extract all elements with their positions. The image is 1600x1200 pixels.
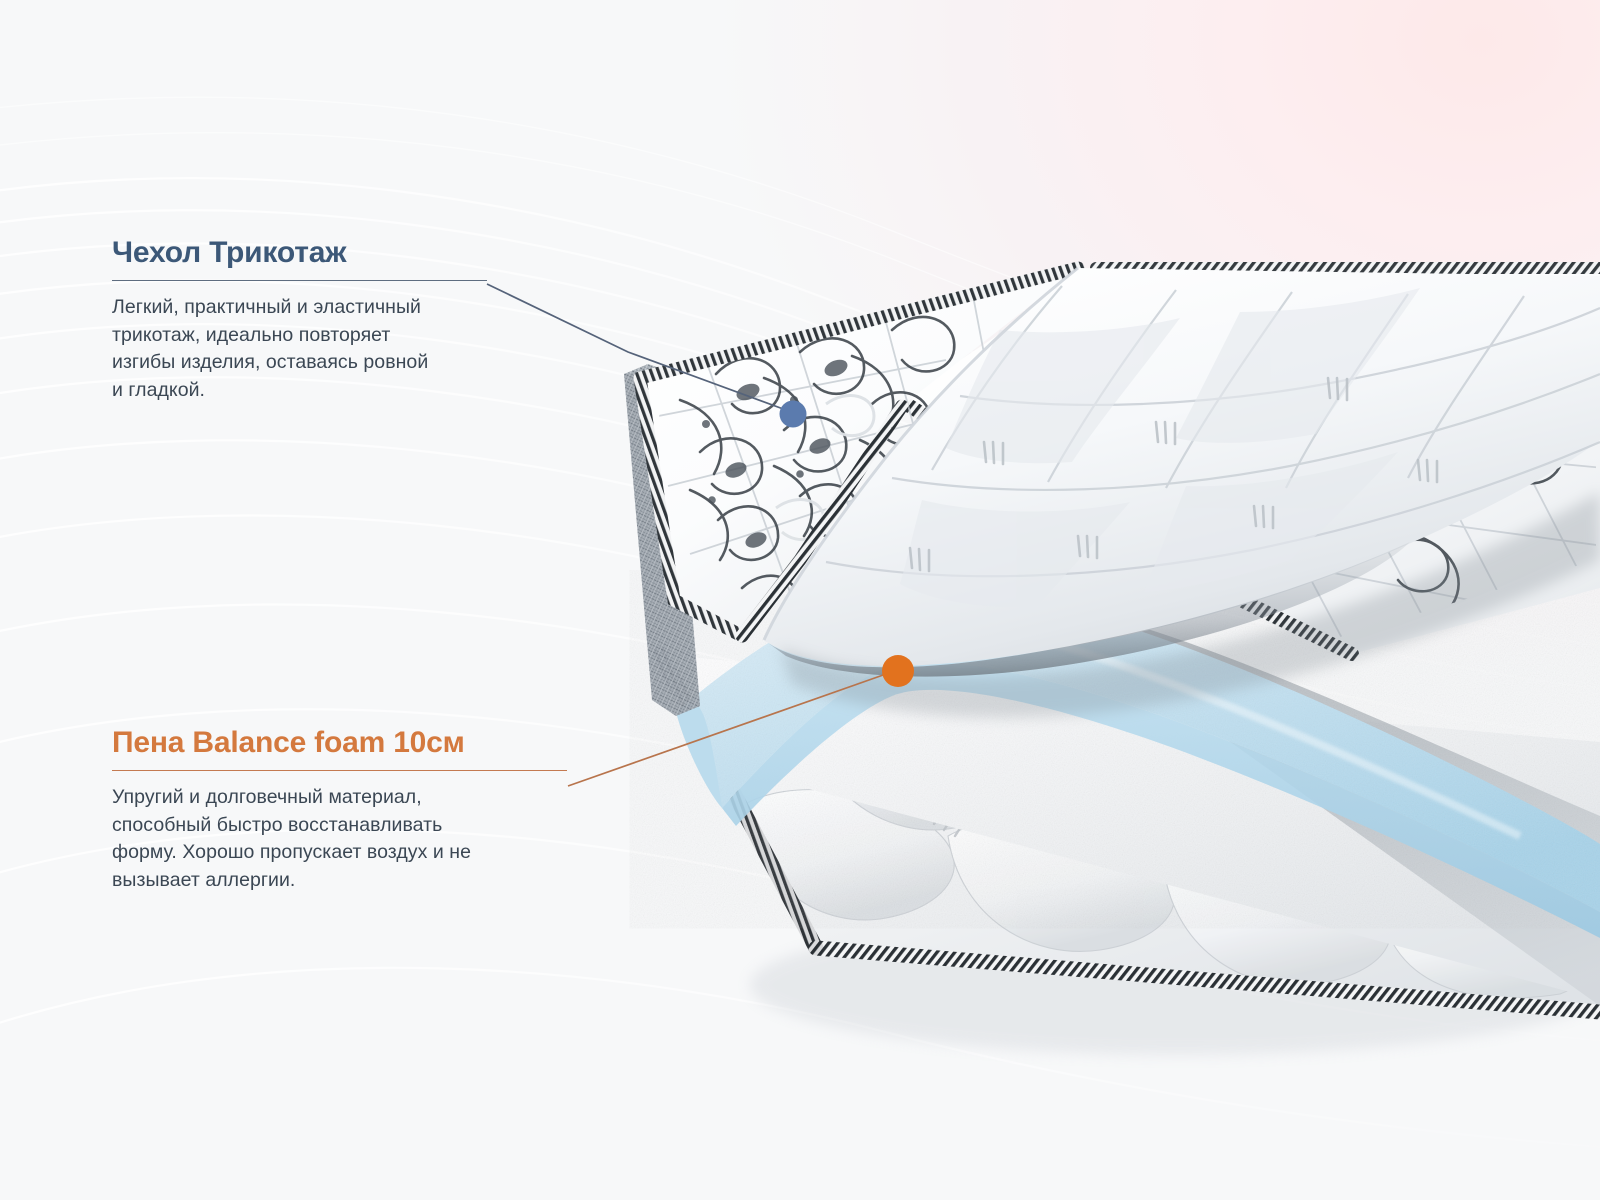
callout-cover-rule <box>112 280 487 281</box>
callout-cover-body: Легкий, практичный и эластичный трикотаж… <box>112 294 442 405</box>
infographic-canvas: Чехол Трикотаж Легкий, практичный и элас… <box>0 0 1600 1200</box>
callout-foam-body: Упругий и долговечный материал, способны… <box>112 784 512 895</box>
callout-foam-rule <box>112 770 567 771</box>
callout-cover-title: Чехол Трикотаж <box>112 236 487 269</box>
mattress-cutaway-illustration <box>0 0 1600 1200</box>
callout-foam-title: Пена Balance foam 10см <box>112 726 567 759</box>
callout-foam: Пена Balance foam 10см Упругий и долгове… <box>112 726 567 895</box>
callout-cover: Чехол Трикотаж Легкий, практичный и элас… <box>112 236 487 405</box>
